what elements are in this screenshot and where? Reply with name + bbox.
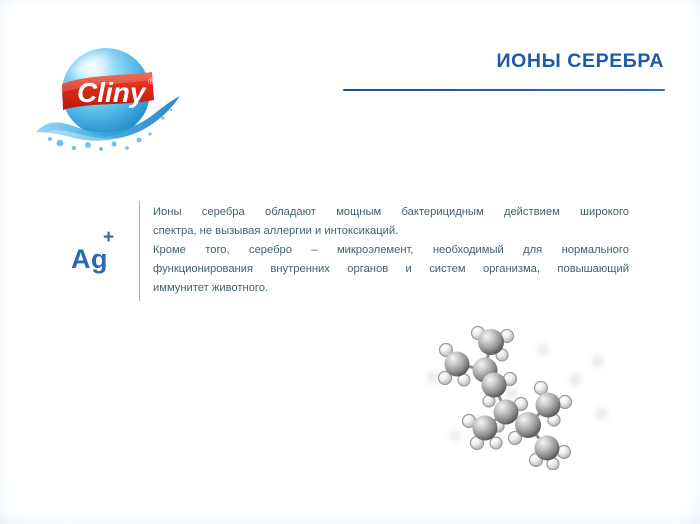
vertical-divider xyxy=(139,201,140,301)
body-line-3: Кроме того, серебро – микроэлемент, необ… xyxy=(153,241,629,260)
molecule-svg xyxy=(428,322,608,470)
body-line-1: Ионы серебра обладают мощным бактерицидн… xyxy=(153,203,629,222)
body-line-4: функционирования внутренних органов и си… xyxy=(153,260,629,279)
silver-charge-superscript: + xyxy=(103,228,114,247)
silver-symbol: Ag xyxy=(71,246,108,273)
title-underline xyxy=(343,89,665,91)
cliny-logo-svg: Cliny ® xyxy=(30,40,190,158)
page-title: ИОНЫ СЕРЕБРА xyxy=(497,50,664,73)
molecule-illustration xyxy=(428,322,608,470)
body-line-5: иммунитет животного. xyxy=(153,279,629,298)
body-paragraph: Ионы серебра обладают мощным бактерицидн… xyxy=(153,203,629,298)
slide-canvas: Cliny ® xyxy=(0,0,700,524)
body-line-2: спектра, не вызывая аллергии и интоксика… xyxy=(153,222,629,241)
logo-wordmark: Cliny xyxy=(77,77,147,108)
slide-content: Cliny ® xyxy=(0,0,700,524)
cliny-logo: Cliny ® xyxy=(30,40,190,158)
logo-registered-mark: ® xyxy=(148,76,155,86)
